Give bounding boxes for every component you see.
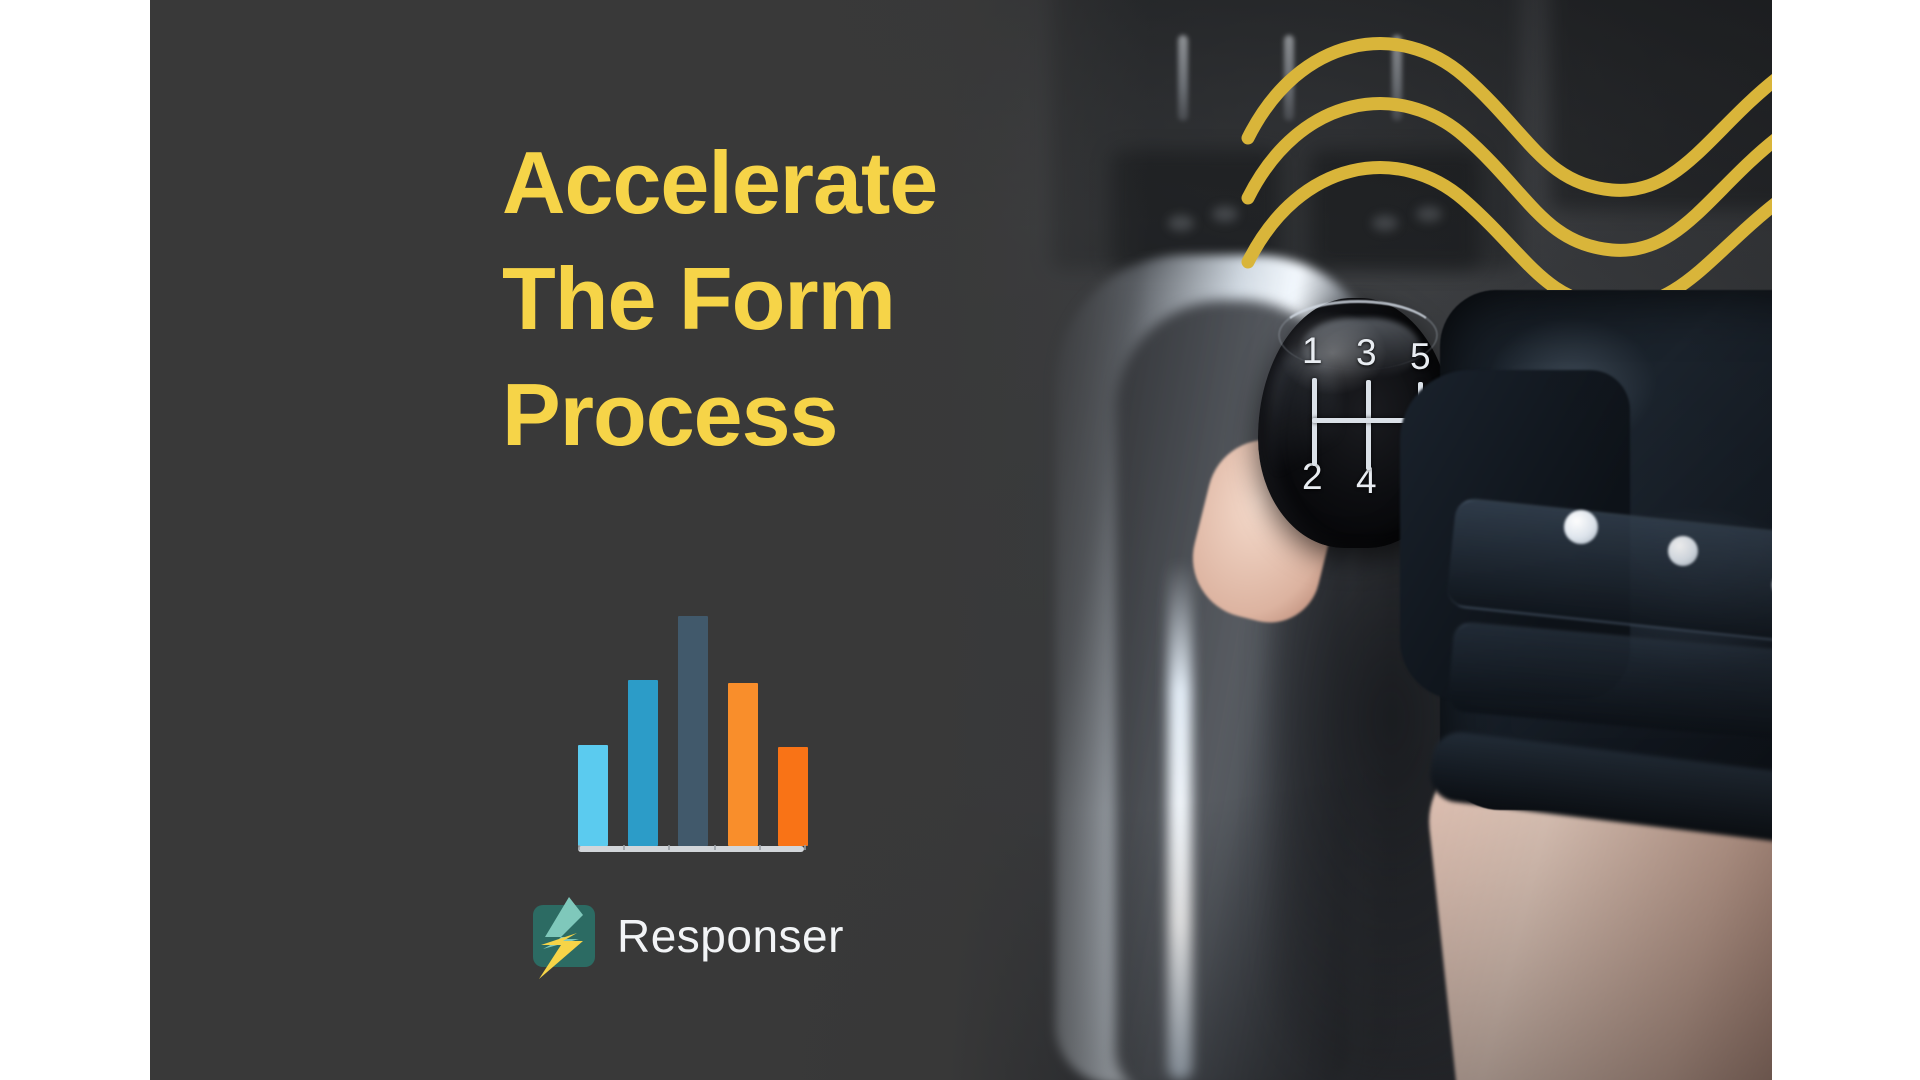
chart-axis-tick — [578, 845, 580, 850]
chart-axis-tick — [668, 845, 670, 850]
headline: Accelerate The Form Process — [502, 125, 1222, 473]
chart-bar — [578, 745, 608, 846]
chart-axis-tick — [804, 845, 806, 850]
headline-line-3: Process — [502, 357, 1222, 473]
headline-line-2: The Form — [502, 241, 1222, 357]
chart-bar — [628, 680, 658, 846]
marketing-banner: 1 3 5 2 4 R — [150, 0, 1772, 1080]
chart-baseline-axis — [578, 846, 804, 852]
headline-line-1: Accelerate — [502, 125, 1222, 241]
responser-logo[interactable]: Responser — [533, 905, 844, 967]
bolt-lower — [539, 933, 583, 979]
chart-axis-tick — [759, 845, 761, 850]
bar-chart — [578, 600, 808, 860]
responser-bolt-icon — [533, 905, 595, 967]
chart-axis-tick — [714, 845, 716, 850]
chart-axis-tick — [623, 845, 625, 850]
responser-wordmark: Responser — [617, 909, 844, 963]
chart-bar — [678, 616, 708, 846]
chart-bar — [778, 747, 808, 846]
chart-plot-area — [578, 616, 808, 846]
gold-wave-lines — [1240, 10, 1772, 290]
chart-bar — [728, 683, 758, 846]
